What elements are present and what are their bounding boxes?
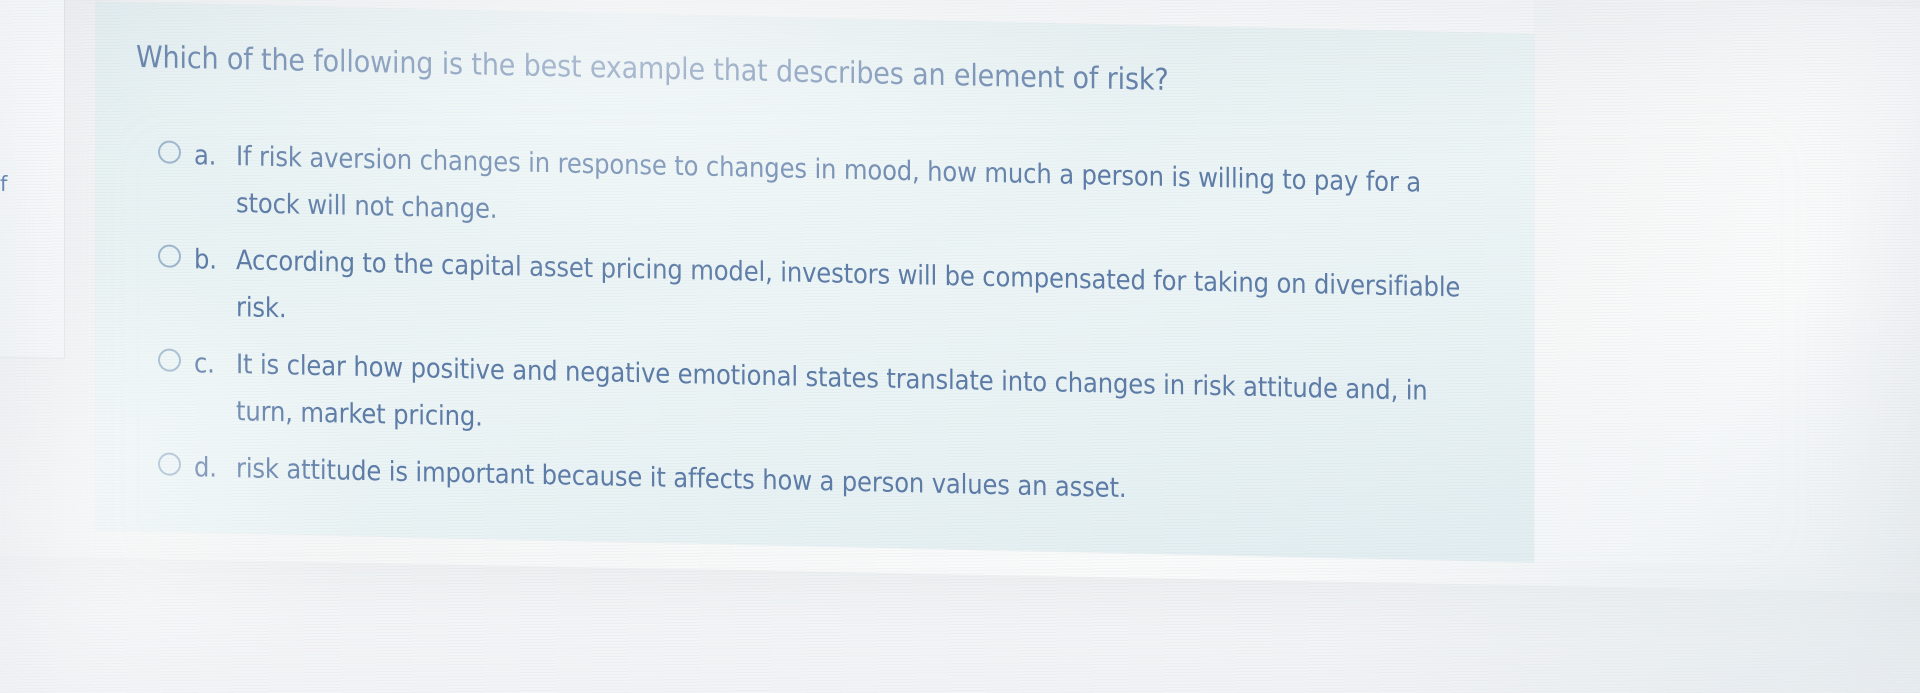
radio-button-a-icon[interactable] xyxy=(158,140,181,164)
option-text-b: According to the capital asset pricing m… xyxy=(236,237,1481,359)
answer-option-b[interactable]: b. According to the capital asset pricin… xyxy=(158,235,1518,359)
left-side-panel-fragment xyxy=(0,0,65,359)
answer-option-c[interactable]: c. It is clear how positive and negative… xyxy=(158,339,1518,463)
option-letter-c: c. xyxy=(194,340,236,388)
page-bottom-background xyxy=(0,556,1920,693)
question-card-content: Which of the following is the best examp… xyxy=(96,2,1534,562)
option-text-c: It is clear how positive and negative em… xyxy=(236,341,1481,463)
option-letter-a: a. xyxy=(194,132,236,180)
radio-button-b-icon[interactable] xyxy=(158,244,181,268)
page-right-background xyxy=(1534,0,1920,568)
answer-option-a[interactable]: a. If risk aversion changes in response … xyxy=(158,131,1518,255)
option-letter-b: b. xyxy=(194,236,236,284)
question-text: Which of the following is the best examp… xyxy=(136,39,1476,106)
radio-button-c-icon[interactable] xyxy=(158,348,181,372)
left-panel-text-fragment: f xyxy=(0,172,8,196)
option-text-a: If risk aversion changes in response to … xyxy=(236,133,1481,255)
photographed-screen-backdrop: f Which of the following is the best exa… xyxy=(0,0,1920,693)
answer-options-list: a. If risk aversion changes in response … xyxy=(158,131,1518,530)
radio-button-d-icon[interactable] xyxy=(158,452,181,476)
option-letter-d: d. xyxy=(194,444,236,492)
